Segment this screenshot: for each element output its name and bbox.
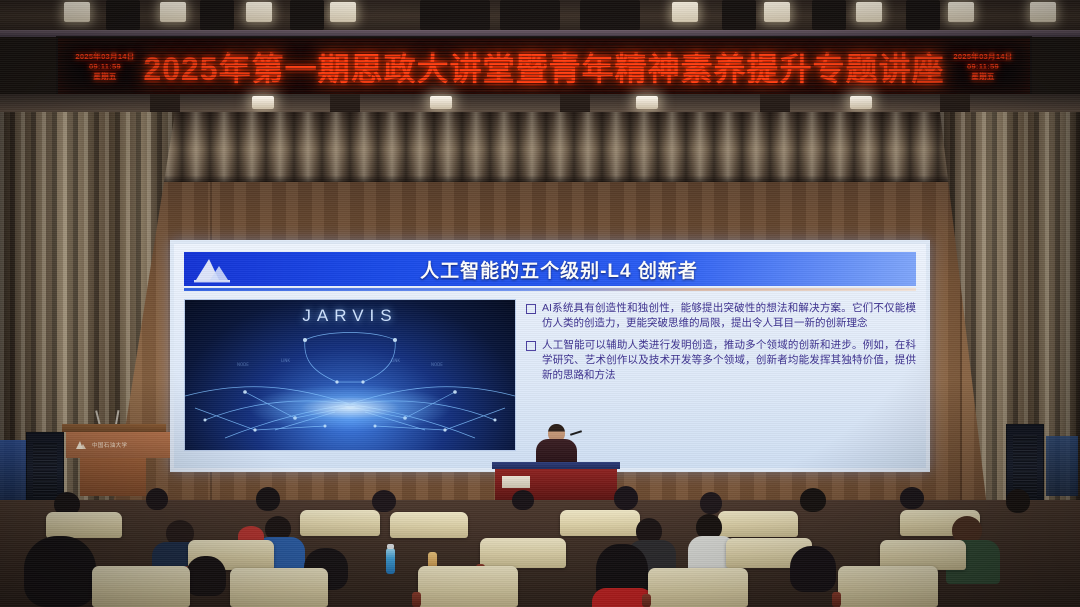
desk-nameplate xyxy=(502,476,530,488)
led-right-time: 09:11:59 xyxy=(940,62,1026,72)
person-head xyxy=(186,556,226,596)
ceiling-panel xyxy=(500,0,560,30)
led-right-weekday: 星期五 xyxy=(940,72,1026,82)
svg-text:LINK: LINK xyxy=(391,358,400,363)
bullet-square-icon xyxy=(526,304,536,314)
ceiling-light xyxy=(64,2,90,22)
desk-top xyxy=(492,462,620,469)
wall-spotlight xyxy=(636,96,658,109)
audience-seat xyxy=(560,510,640,536)
person-head xyxy=(900,487,924,509)
ceiling-light xyxy=(856,2,882,22)
led-left-date: 2025年03月14日 xyxy=(62,52,148,62)
ceiling-panel xyxy=(106,0,140,30)
svg-text:NODE: NODE xyxy=(237,362,249,367)
ceiling-panel xyxy=(580,0,640,30)
seat-armrest xyxy=(642,594,651,607)
lecture-hall-photo: 2025年03月14日 09:11:59 星期五 2025年第一期思政大讲堂暨青… xyxy=(0,0,1080,607)
ceiling-panel xyxy=(420,0,490,30)
led-left-clock: 2025年03月14日 09:11:59 星期五 xyxy=(62,52,148,82)
ceiling-light xyxy=(672,2,698,22)
seat-armrest xyxy=(832,592,841,607)
person-head-long-hair xyxy=(24,536,96,607)
stage-glow-right xyxy=(1046,436,1078,496)
audience-seat xyxy=(718,511,798,537)
slide-bullet-list: AI系统具有创造性和独创性，能够提出突破性的想法和解决方案。它们不仅能模仿人类的… xyxy=(526,299,916,458)
water-bottle xyxy=(386,548,395,574)
ceiling-light xyxy=(160,2,186,22)
podium-body xyxy=(80,458,146,496)
person-head xyxy=(700,492,722,514)
ceiling-panel xyxy=(812,0,846,30)
ceiling-panel xyxy=(200,0,234,30)
person-head xyxy=(256,487,280,511)
audience-seat xyxy=(838,566,938,607)
ceiling-panel xyxy=(290,0,324,30)
bullet-square-icon xyxy=(526,341,536,351)
person-head xyxy=(372,490,396,512)
audience-seat xyxy=(300,510,380,536)
ceiling-light xyxy=(948,2,974,22)
wall-spotlight xyxy=(252,96,274,109)
wall-panel xyxy=(940,94,970,114)
person-head xyxy=(1006,489,1030,513)
led-right-date: 2025年03月14日 xyxy=(940,52,1026,62)
slide-title: 人工智能的五个级别-L4 创新者 xyxy=(236,256,916,283)
person-head xyxy=(512,490,534,510)
wall-panel xyxy=(330,94,360,114)
person-head xyxy=(614,486,638,510)
person-head xyxy=(146,488,168,510)
slide-bullet-text: 人工智能可以辅助人类进行发明创造，推动多个领域的创新和进步。例如，在科学研究、艺… xyxy=(542,338,916,383)
slide-title-bar: 人工智能的五个级别-L4 创新者 xyxy=(184,252,916,286)
podium-top xyxy=(62,424,166,432)
seat-armrest xyxy=(412,592,421,607)
ceiling-panel xyxy=(906,0,940,30)
svg-text:LINK: LINK xyxy=(281,358,290,363)
ceiling-light xyxy=(1030,2,1056,22)
image-glow xyxy=(250,385,450,431)
audience-seat xyxy=(418,566,518,607)
led-right-clock: 2025年03月14日 09:11:59 星期五 xyxy=(940,52,1026,82)
led-banner-title: 2025年第一期思政大讲堂暨青年精神素养提升专题讲座 xyxy=(143,44,944,90)
slide-bullet: 人工智能可以辅助人类进行发明创造，推动多个领域的创新和进步。例如，在科学研究、艺… xyxy=(526,338,916,383)
podium: 中国石油大学 xyxy=(62,424,166,496)
audience-seat xyxy=(92,566,190,607)
podium-label: 中国石油大学 xyxy=(92,441,127,449)
wall-spotlight xyxy=(850,96,872,109)
podium-front-panel: 中国石油大学 xyxy=(66,432,170,458)
mountain-logo-icon xyxy=(74,439,88,451)
led-left-time: 09:11:59 xyxy=(62,62,148,72)
person-head xyxy=(790,546,836,592)
slide-bullet-text: AI系统具有创造性和独创性，能够提出突破性的想法和解决方案。它们不仅能模仿人类的… xyxy=(542,301,916,331)
wall-spotlight xyxy=(430,96,452,109)
jarvis-label: JARVIS xyxy=(185,306,515,326)
mountain-logo-icon xyxy=(190,254,236,284)
audience-seat xyxy=(390,512,468,538)
slide-image-jarvis: NODE NODE LINK LINK JARVIS xyxy=(184,299,516,451)
ceiling-light xyxy=(246,2,272,22)
audience-seat xyxy=(46,512,122,538)
ceiling-light xyxy=(330,2,356,22)
audience-seat xyxy=(648,568,748,607)
wall-panel xyxy=(560,94,590,114)
led-banner: 2025年03月14日 09:11:59 星期五 2025年第一期思政大讲堂暨青… xyxy=(56,36,1032,98)
wall-panel xyxy=(760,94,790,114)
person-head xyxy=(800,488,826,512)
led-left-weekday: 星期五 xyxy=(62,72,148,82)
audience-seat xyxy=(480,538,566,568)
bottle-cap xyxy=(387,544,394,549)
audience-seat xyxy=(230,568,328,607)
ceiling-panel xyxy=(722,0,756,30)
slide-bullet: AI系统具有创造性和独创性，能够提出突破性的想法和解决方案。它们不仅能模仿人类的… xyxy=(526,301,916,331)
wall-panel xyxy=(150,94,180,114)
ceiling-light xyxy=(764,2,790,22)
svg-text:NODE: NODE xyxy=(431,362,443,367)
